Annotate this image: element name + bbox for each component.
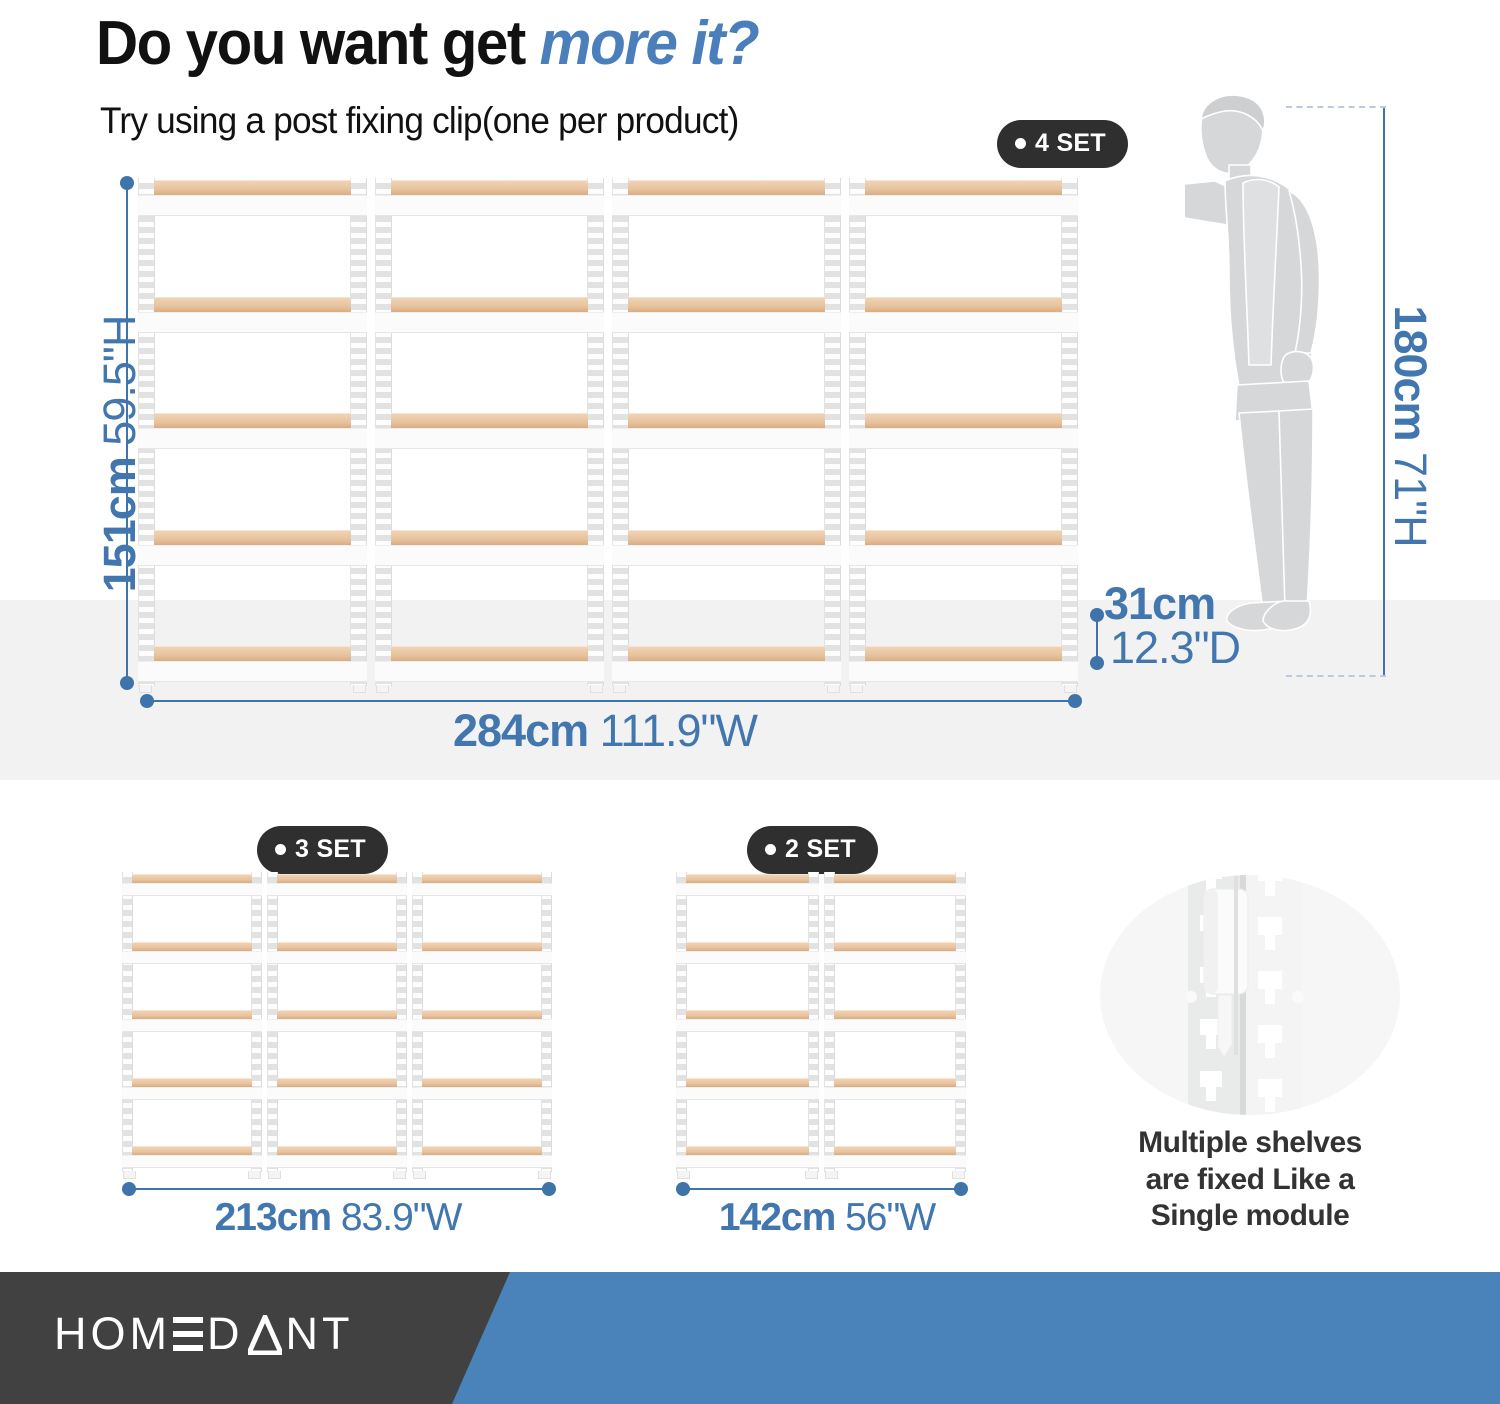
shelf-board: [422, 874, 542, 883]
shelf-unit: [676, 872, 819, 1172]
shelf-rail: [267, 1087, 407, 1100]
shelf-rail: [375, 312, 604, 333]
shelf-rail: [122, 883, 262, 896]
rule-endcap: [1090, 608, 1104, 622]
shelf-board: [628, 413, 825, 428]
dim-width-3set: 213cm 83.9"W: [118, 1196, 558, 1240]
shelf-rail: [676, 951, 819, 964]
shelf-rail: [849, 195, 1078, 216]
shelf-rail: [824, 883, 967, 896]
shelf-rail: [122, 951, 262, 964]
shelf-rail: [612, 312, 841, 333]
shelf-board: [154, 413, 351, 428]
shelf-board: [391, 297, 588, 312]
shelf-board: [834, 1010, 957, 1019]
dim-height-person: 180cm 71"H: [1384, 211, 1436, 641]
shelf-rail: [676, 883, 819, 896]
shelf-rail: [824, 951, 967, 964]
shelf-rail: [375, 545, 604, 566]
badge-2-set: 2 SET: [747, 826, 878, 874]
shelf-board: [422, 1078, 542, 1087]
badge-4-set: 4 SET: [997, 120, 1128, 168]
shelf-rail: [849, 545, 1078, 566]
shelf-rail: [612, 661, 841, 682]
shelf-board: [865, 180, 1062, 195]
shelf-foot: [123, 1171, 136, 1179]
shelf-foot: [827, 685, 840, 693]
shelf-unit: [612, 178, 841, 686]
shelf-rail: [412, 1155, 552, 1168]
clip-caption-line2: are fixed Like a: [1080, 1162, 1420, 1199]
clip-caption: Multiple shelves are fixed Like a Single…: [1080, 1125, 1420, 1235]
shelf-foot: [850, 685, 863, 693]
clip-caption-line1: Multiple shelves: [1080, 1125, 1420, 1162]
logo-part-hom: HOM: [54, 1308, 171, 1360]
shelf-rail: [676, 1087, 819, 1100]
shelf-foot: [268, 1171, 281, 1179]
clip-caption-line3: Single module: [1080, 1198, 1420, 1235]
shelf-foot: [825, 1171, 838, 1179]
rule-width-main: [146, 700, 1076, 702]
shelf-board: [277, 1146, 397, 1155]
shelf-rail: [375, 661, 604, 682]
shelf-rail: [612, 545, 841, 566]
rule-endcap: [542, 1182, 556, 1196]
shelf-rail: [267, 1019, 407, 1032]
shelf-foot: [248, 1171, 261, 1179]
shelf-foot: [376, 685, 389, 693]
logo-part-nt: NT: [286, 1308, 354, 1360]
shelf-rail: [849, 428, 1078, 449]
shelf-unit: [849, 178, 1078, 686]
shelf-board: [391, 530, 588, 545]
rule-endcap: [1090, 656, 1104, 670]
shelf-rail: [375, 428, 604, 449]
badge-2-set-label: 2 SET: [785, 835, 856, 864]
shelf-unit: [824, 872, 967, 1172]
shelf-board: [686, 942, 809, 951]
shelf-unit: [267, 872, 407, 1172]
badge-3-set: 3 SET: [257, 826, 388, 874]
shelf-unit: [412, 872, 552, 1172]
shelf-board: [422, 1146, 542, 1155]
shelf-board: [277, 942, 397, 951]
shelf-board: [686, 874, 809, 883]
person-silhouette: [1185, 95, 1400, 690]
shelf-rail: [138, 428, 367, 449]
shelf-board: [834, 1078, 957, 1087]
bullet-dot-icon: [275, 844, 286, 855]
shelf-rail: [849, 312, 1078, 333]
shelf-board: [628, 646, 825, 661]
shelf-board: [686, 1146, 809, 1155]
rule-endcap: [122, 1182, 136, 1196]
shelf-board: [865, 297, 1062, 312]
footer-banner: HOM D NT Useful For Bulk Installation & …: [0, 1272, 1500, 1404]
shelf-board: [686, 1078, 809, 1087]
dim-depth-in: 12.3"D: [1110, 622, 1240, 674]
shelf-rack-3-set: [122, 872, 552, 1172]
brand-logo: HOM D NT: [54, 1308, 354, 1360]
top-section: Do you want get more it? Try using a pos…: [0, 0, 1500, 780]
shelf-board: [277, 1078, 397, 1087]
rule-endcap: [954, 1182, 968, 1196]
shelf-board: [628, 180, 825, 195]
shelf-board: [422, 1010, 542, 1019]
shelf-unit: [375, 178, 604, 686]
shelf-board: [154, 180, 351, 195]
dim-width-main: 284cm 111.9"W: [130, 705, 1080, 757]
infographic-page: Do you want get more it? Try using a pos…: [0, 0, 1500, 1404]
shelf-board: [154, 646, 351, 661]
shelf-foot: [139, 685, 152, 693]
rule-endcap: [120, 676, 134, 690]
shelf-foot: [805, 1171, 818, 1179]
shelf-foot: [677, 1171, 690, 1179]
shelf-rail: [375, 195, 604, 216]
shelf-foot: [413, 1171, 426, 1179]
shelf-board: [277, 874, 397, 883]
shelf-board: [422, 942, 542, 951]
shelf-foot: [613, 685, 626, 693]
page-title: Do you want get more it?: [96, 8, 758, 79]
shelf-rack-4-set: [138, 178, 1078, 686]
shelf-board: [154, 297, 351, 312]
shelf-rail: [824, 1019, 967, 1032]
bullet-dot-icon: [765, 844, 776, 855]
shelf-board: [391, 413, 588, 428]
shelf-rail: [267, 951, 407, 964]
headline-accent: more it?: [540, 9, 759, 78]
shelf-board: [154, 530, 351, 545]
shelf-board: [132, 874, 252, 883]
shelf-board: [628, 530, 825, 545]
shelf-rail: [824, 1155, 967, 1168]
dim-height-shelf: 151cm 59.5"H: [94, 239, 146, 669]
shelf-rail: [122, 1087, 262, 1100]
bullet-dot-icon: [1015, 138, 1026, 149]
shelf-rail: [138, 195, 367, 216]
logo-e-glyph-icon: [173, 1314, 203, 1354]
logo-a-glyph-icon: [248, 1314, 282, 1354]
shelf-rail: [267, 1155, 407, 1168]
shelf-unit: [122, 872, 262, 1172]
shelf-board: [277, 1010, 397, 1019]
guideline-bottom: [1286, 675, 1386, 677]
shelf-rail: [824, 1087, 967, 1100]
shelf-board: [865, 413, 1062, 428]
shelf-rail: [412, 883, 552, 896]
shelf-rail: [412, 1087, 552, 1100]
post-clip-closeup: [1100, 875, 1400, 1115]
shelf-rail: [612, 428, 841, 449]
rule-width-2set: [682, 1188, 960, 1190]
shelf-foot: [1064, 685, 1077, 693]
shelf-rail: [412, 951, 552, 964]
badge-4-set-label: 4 SET: [1035, 129, 1106, 158]
shelf-board: [132, 942, 252, 951]
shelf-board: [132, 1146, 252, 1155]
shelf-foot: [538, 1171, 551, 1179]
shelf-foot: [590, 685, 603, 693]
clip-illustration: [1100, 875, 1400, 1115]
shelf-board: [865, 646, 1062, 661]
shelf-foot: [393, 1171, 406, 1179]
guideline-top: [1286, 106, 1386, 108]
shelf-rack-2-set: [676, 872, 966, 1172]
shelf-board: [391, 180, 588, 195]
shelf-unit: [138, 178, 367, 686]
shelf-board: [865, 530, 1062, 545]
rule-endcap: [120, 176, 134, 190]
shelf-board: [834, 942, 957, 951]
logo-part-d: D: [207, 1308, 244, 1360]
shelf-rail: [412, 1019, 552, 1032]
shelf-rail: [138, 545, 367, 566]
shelf-rail: [267, 883, 407, 896]
shelf-board: [834, 874, 957, 883]
shelf-board: [834, 1146, 957, 1155]
shelf-rail: [138, 312, 367, 333]
headline-main: Do you want get: [96, 9, 540, 78]
shelf-rail: [676, 1155, 819, 1168]
rule-width-3set: [128, 1188, 548, 1190]
page-subtitle: Try using a post fixing clip(one per pro…: [100, 100, 739, 142]
shelf-board: [686, 1010, 809, 1019]
shelf-rail: [612, 195, 841, 216]
badge-3-set-label: 3 SET: [295, 835, 366, 864]
shelf-board: [391, 646, 588, 661]
rule-endcap: [676, 1182, 690, 1196]
dim-width-2set: 142cm 56"W: [662, 1196, 992, 1240]
shelf-foot: [952, 1171, 965, 1179]
shelf-rail: [676, 1019, 819, 1032]
shelf-board: [132, 1078, 252, 1087]
shelf-rail: [849, 661, 1078, 682]
shelf-rail: [122, 1155, 262, 1168]
shelf-foot: [353, 685, 366, 693]
shelf-board: [628, 297, 825, 312]
shelf-rail: [138, 661, 367, 682]
shelf-rail: [122, 1019, 262, 1032]
shelf-board: [132, 1010, 252, 1019]
